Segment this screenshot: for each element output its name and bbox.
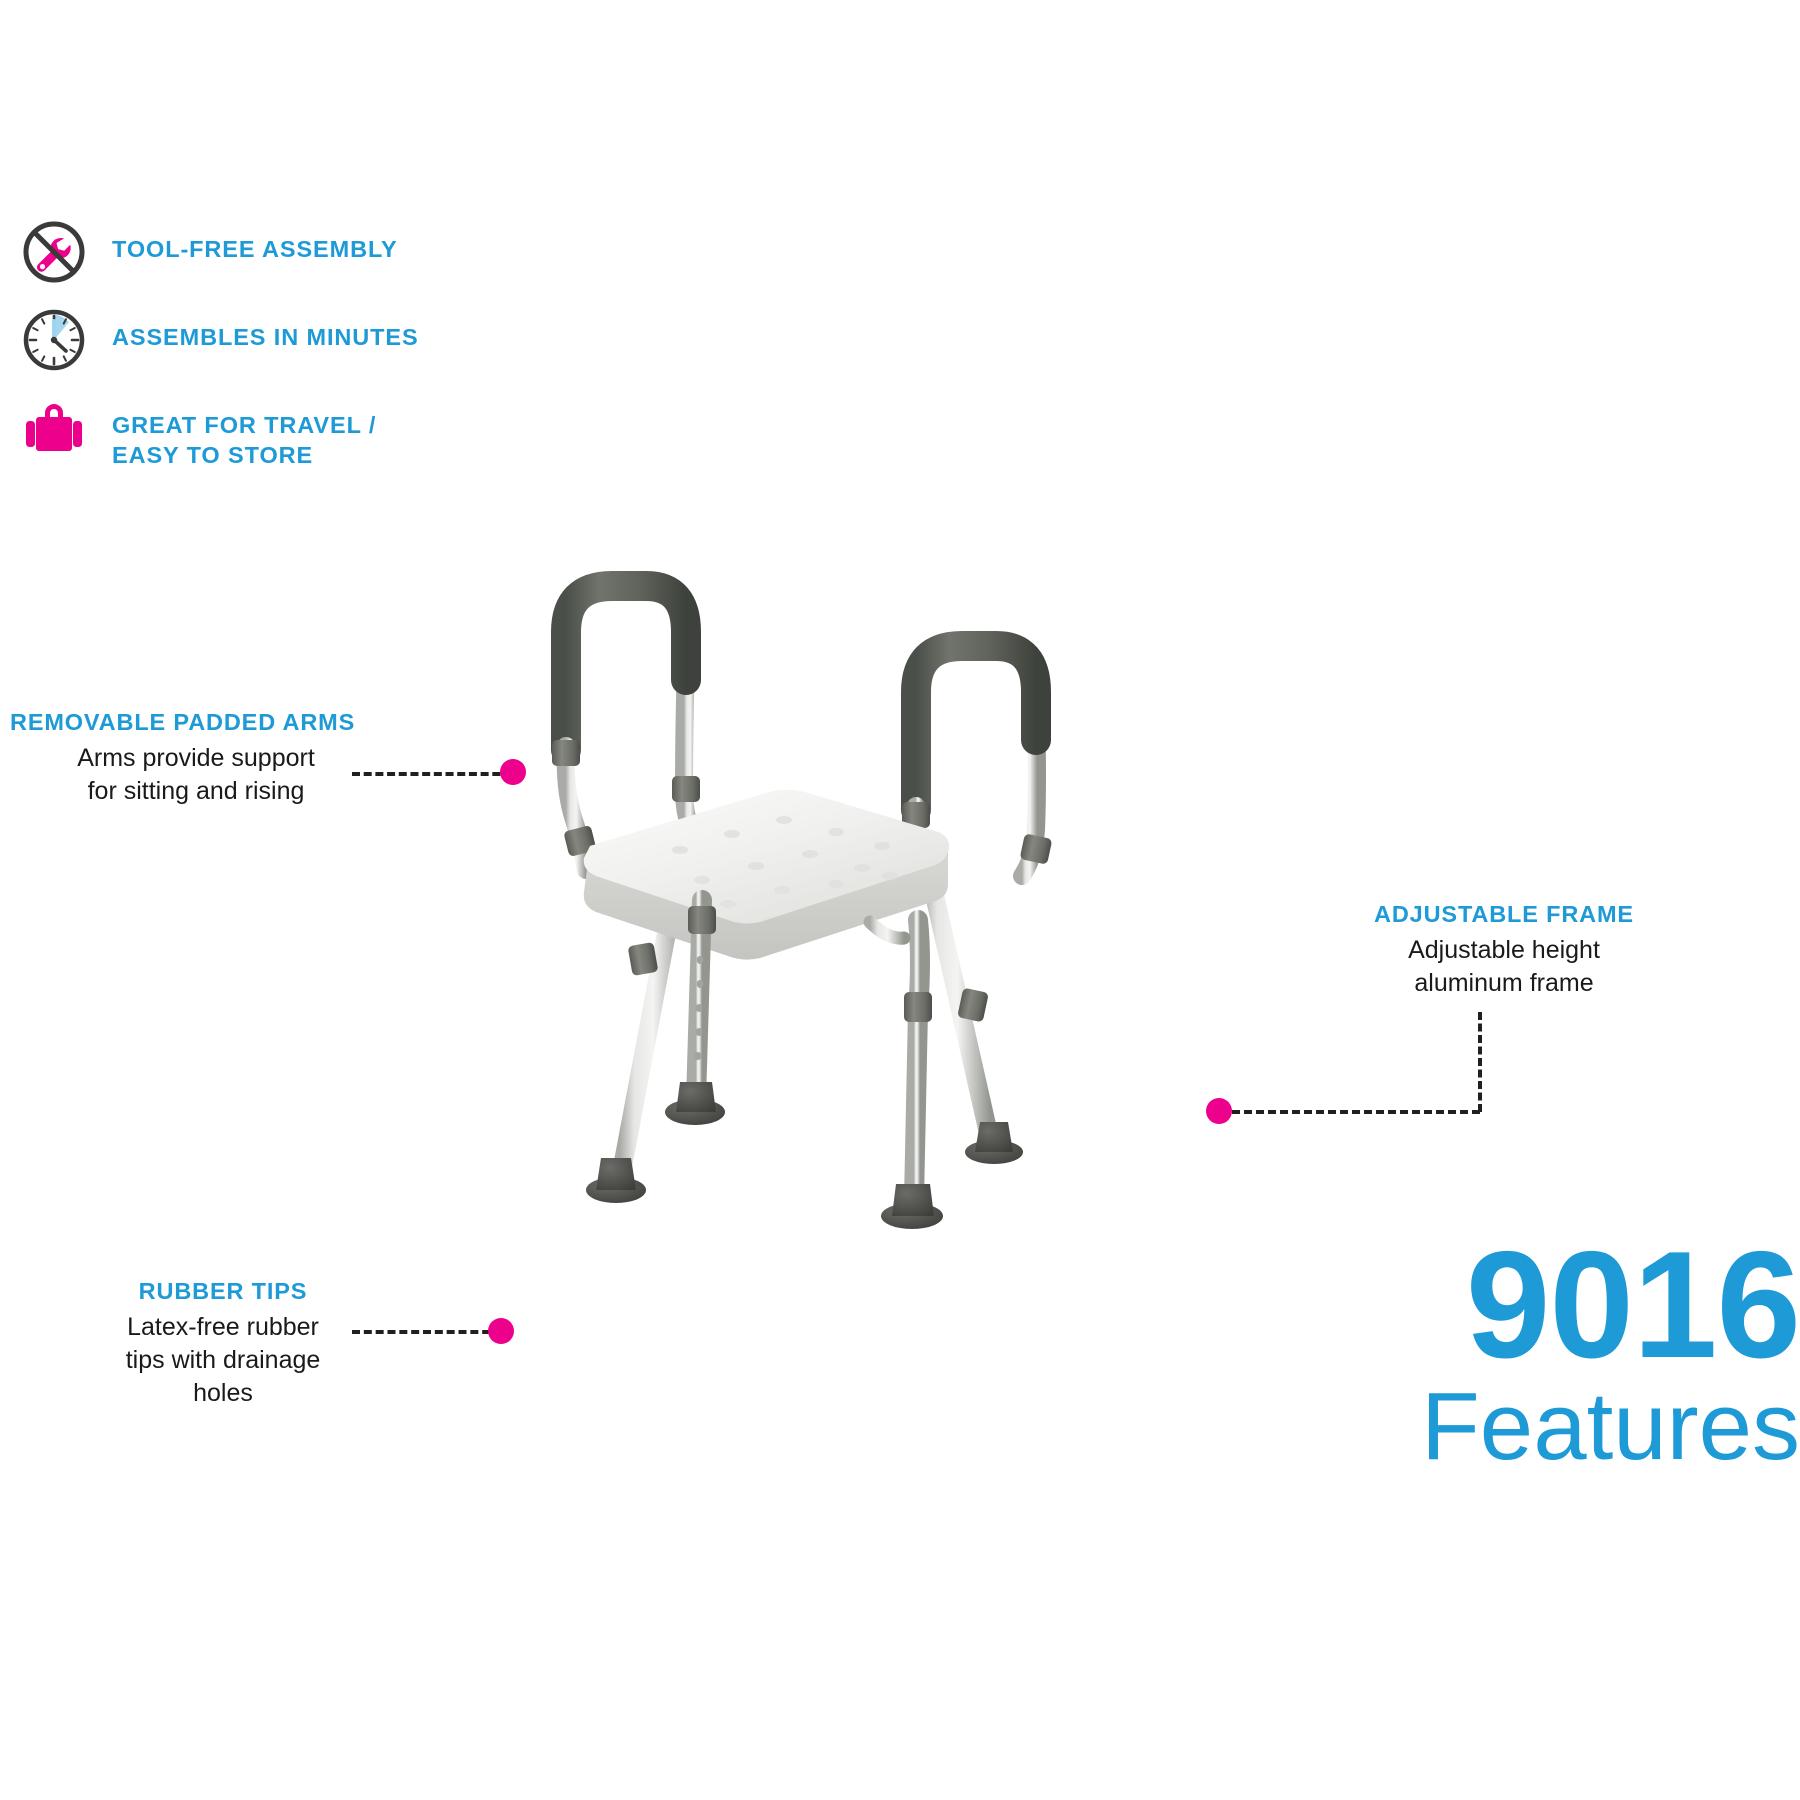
callout-removable-padded-arms: REMOVABLE PADDED ARMS Arms provide suppo…: [10, 708, 400, 808]
feature-label-assembles-minutes: ASSEMBLES IN MINUTES: [90, 304, 419, 352]
feature-row-tool-free: TOOL-FREE ASSEMBLY: [18, 216, 538, 292]
callout-tips-body: Latex-free rubber tips with drainage hol…: [108, 1311, 338, 1410]
no-tools-wrench-icon: [18, 216, 90, 288]
leg-front-right: [881, 920, 943, 1229]
leader-line-frame-horizontal: [1232, 1110, 1480, 1114]
callout-tips-title: RUBBER TIPS: [108, 1277, 338, 1305]
suitcase-icon: [18, 392, 90, 464]
model-number: 9016: [1240, 1236, 1800, 1376]
callout-arms-title: REMOVABLE PADDED ARMS: [10, 708, 400, 736]
callout-adjustable-frame: ADJUSTABLE FRAME Adjustable height alumi…: [1329, 900, 1679, 1000]
feature-row-travel-store: GREAT FOR TRAVEL / EASY TO STORE: [18, 392, 538, 470]
leader-dot-arms: [500, 759, 526, 785]
feature-label-tool-free: TOOL-FREE ASSEMBLY: [90, 216, 398, 264]
feature-list: TOOL-FREE ASSEMBLY: [18, 216, 538, 482]
leader-dot-frame: [1206, 1098, 1232, 1124]
leader-line-tips: [352, 1330, 502, 1334]
feature-infographic-page: TOOL-FREE ASSEMBLY: [0, 0, 1800, 1800]
callout-rubber-tips: RUBBER TIPS Latex-free rubber tips with …: [108, 1277, 338, 1410]
clock-icon: [18, 304, 90, 376]
leader-line-arms: [352, 772, 512, 776]
model-features-block: 9016 Features: [1240, 1236, 1800, 1476]
leader-dot-tips: [488, 1318, 514, 1344]
leader-line-frame-vertical: [1478, 1012, 1482, 1112]
callout-arms-body: Arms provide support for sitting and ris…: [10, 742, 400, 808]
callout-frame-body: Adjustable height aluminum frame: [1329, 934, 1679, 1000]
feature-row-assembles-minutes: ASSEMBLES IN MINUTES: [18, 304, 538, 380]
feature-label-travel-store: GREAT FOR TRAVEL / EASY TO STORE: [90, 392, 376, 470]
callout-frame-title: ADJUSTABLE FRAME: [1329, 900, 1679, 928]
model-features-label: Features: [1240, 1378, 1800, 1476]
shower-chair-product-image: [470, 540, 1170, 1280]
